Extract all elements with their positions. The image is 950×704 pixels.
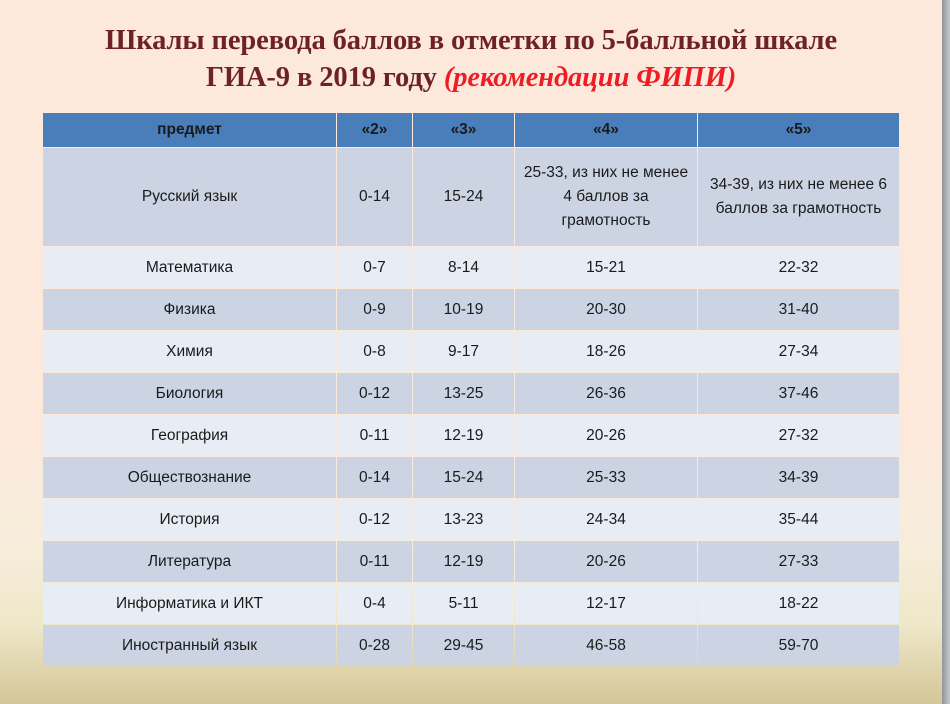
- cell-grade-2: 0-12: [337, 373, 412, 414]
- cell-grade-4: 20-26: [515, 415, 697, 456]
- cell-grade-4: 15-21: [515, 247, 697, 288]
- cell-grade-2: 0-11: [337, 541, 412, 582]
- cell-grade-3: 9-17: [413, 331, 514, 372]
- cell-grade-3: 5-11: [413, 583, 514, 624]
- cell-grade-2: 0-11: [337, 415, 412, 456]
- column-header-grade-5: «5»: [698, 113, 899, 147]
- column-header-grade-4: «4»: [515, 113, 697, 147]
- cell-subject: Русский язык: [43, 148, 336, 246]
- table-row: Информатика и ИКТ0-45-1112-1718-22: [43, 583, 899, 624]
- cell-grade-3: 12-19: [413, 541, 514, 582]
- cell-subject: Обществознание: [43, 457, 336, 498]
- cell-grade-4: 25-33, из них не менее 4 баллов за грамо…: [515, 148, 697, 246]
- cell-grade-2: 0-8: [337, 331, 412, 372]
- cell-grade-5: 31-40: [698, 289, 899, 330]
- cell-grade-5: 35-44: [698, 499, 899, 540]
- cell-grade-4: 25-33: [515, 457, 697, 498]
- cell-subject: История: [43, 499, 336, 540]
- column-header-subject: предмет: [43, 113, 336, 147]
- title-line-2: ГИА-9 в 2019 году (рекомендации ФИПИ): [0, 59, 942, 96]
- cell-grade-3: 12-19: [413, 415, 514, 456]
- cell-grade-5: 37-46: [698, 373, 899, 414]
- cell-grade-2: 0-7: [337, 247, 412, 288]
- cell-grade-5: 18-22: [698, 583, 899, 624]
- cell-subject: Биология: [43, 373, 336, 414]
- table-row: Математика0-78-1415-2122-32: [43, 247, 899, 288]
- cell-grade-3: 10-19: [413, 289, 514, 330]
- cell-grade-2: 0-9: [337, 289, 412, 330]
- cell-grade-3: 13-25: [413, 373, 514, 414]
- cell-grade-3: 15-24: [413, 457, 514, 498]
- grades-table: предмет «2» «3» «4» «5» Русский язык0-14…: [42, 112, 900, 667]
- cell-grade-2: 0-28: [337, 625, 412, 666]
- cell-subject: География: [43, 415, 336, 456]
- slide-edge-strip: [942, 0, 950, 704]
- cell-grade-3: 29-45: [413, 625, 514, 666]
- table-row: Биология0-1213-2526-3637-46: [43, 373, 899, 414]
- cell-subject: Физика: [43, 289, 336, 330]
- cell-subject: Химия: [43, 331, 336, 372]
- cell-grade-5: 34-39, из них не менее 6 баллов за грамо…: [698, 148, 899, 246]
- cell-grade-4: 26-36: [515, 373, 697, 414]
- cell-grade-5: 27-34: [698, 331, 899, 372]
- cell-grade-4: 12-17: [515, 583, 697, 624]
- cell-subject: Информатика и ИКТ: [43, 583, 336, 624]
- cell-grade-4: 20-30: [515, 289, 697, 330]
- title-accent-fipi: (рекомендации ФИПИ): [444, 62, 736, 93]
- cell-grade-5: 27-32: [698, 415, 899, 456]
- cell-grade-4: 24-34: [515, 499, 697, 540]
- cell-grade-3: 8-14: [413, 247, 514, 288]
- table-row: Физика0-910-1920-3031-40: [43, 289, 899, 330]
- cell-grade-5: 34-39: [698, 457, 899, 498]
- cell-grade-3: 13-23: [413, 499, 514, 540]
- cell-grade-2: 0-14: [337, 148, 412, 246]
- table-body: Русский язык0-1415-2425-33, из них не ме…: [43, 148, 899, 666]
- title-line-2-plain: ГИА-9 в 2019 году: [206, 62, 444, 93]
- grades-table-container: предмет «2» «3» «4» «5» Русский язык0-14…: [42, 112, 897, 667]
- cell-grade-5: 59-70: [698, 625, 899, 666]
- cell-grade-3: 15-24: [413, 148, 514, 246]
- cell-grade-5: 27-33: [698, 541, 899, 582]
- table-row: География0-1112-1920-2627-32: [43, 415, 899, 456]
- table-row: Литература0-1112-1920-2627-33: [43, 541, 899, 582]
- title-line-1: Шкалы перевода баллов в отметки по 5-бал…: [0, 22, 942, 59]
- column-header-grade-2: «2»: [337, 113, 412, 147]
- table-row: Химия0-89-1718-2627-34: [43, 331, 899, 372]
- cell-subject: Иностранный язык: [43, 625, 336, 666]
- column-header-grade-3: «3»: [413, 113, 514, 147]
- cell-grade-2: 0-4: [337, 583, 412, 624]
- cell-grade-2: 0-14: [337, 457, 412, 498]
- table-row: Иностранный язык0-2829-4546-5859-70: [43, 625, 899, 666]
- cell-grade-5: 22-32: [698, 247, 899, 288]
- table-row: Русский язык0-1415-2425-33, из них не ме…: [43, 148, 899, 246]
- table-row: История0-1213-2324-3435-44: [43, 499, 899, 540]
- table-header: предмет «2» «3» «4» «5»: [43, 113, 899, 147]
- cell-subject: Литература: [43, 541, 336, 582]
- cell-grade-2: 0-12: [337, 499, 412, 540]
- cell-grade-4: 46-58: [515, 625, 697, 666]
- cell-grade-4: 18-26: [515, 331, 697, 372]
- slide-canvas: Шкалы перевода баллов в отметки по 5-бал…: [0, 0, 942, 704]
- table-header-row: предмет «2» «3» «4» «5»: [43, 113, 899, 147]
- cell-subject: Математика: [43, 247, 336, 288]
- cell-grade-4: 20-26: [515, 541, 697, 582]
- table-row: Обществознание0-1415-2425-3334-39: [43, 457, 899, 498]
- page-title: Шкалы перевода баллов в отметки по 5-бал…: [0, 0, 942, 96]
